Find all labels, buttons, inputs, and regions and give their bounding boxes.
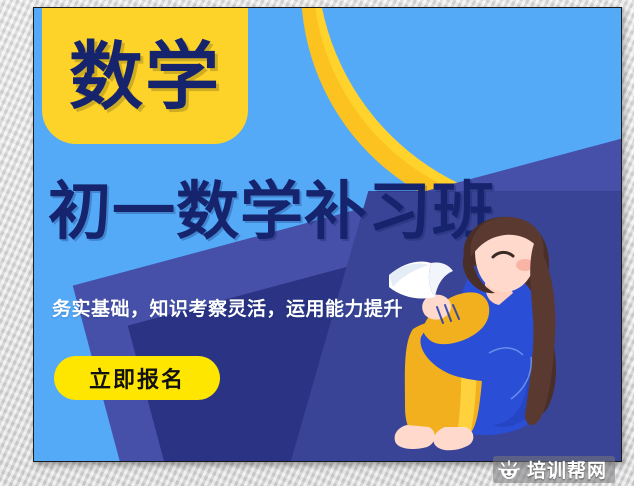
enroll-now-button-label: 立即报名 <box>89 362 185 394</box>
enroll-now-button[interactable]: 立即报名 <box>54 356 220 400</box>
watermark-text: 培训帮网 <box>527 456 607 483</box>
watermark: 培训帮网 <box>493 456 615 483</box>
subject-badge: 数学 <box>42 7 248 144</box>
girl-reading-book-illustration <box>373 211 613 461</box>
subject-badge-label: 数学 <box>69 40 221 114</box>
course-promo-poster: 数学 初一数学补习班 务实基础，知识考察灵活，运用能力提升 立即报名 <box>33 7 622 462</box>
subtitle-text: 务实基础，知识考察灵活，运用能力提升 <box>52 294 403 321</box>
sun-face-logo-icon <box>498 460 520 480</box>
